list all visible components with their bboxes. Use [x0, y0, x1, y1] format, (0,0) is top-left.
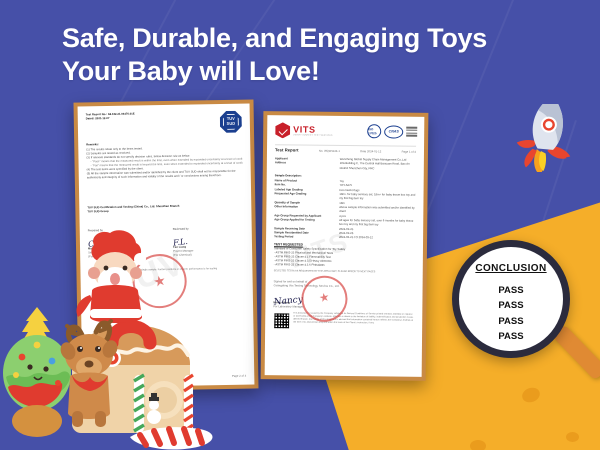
tuv-seal-label: TUV SUD [224, 117, 238, 126]
field-key: Testing Period [274, 235, 339, 240]
pass-result: PASS [498, 314, 523, 329]
ilac-mra-badge-icon [406, 127, 417, 136]
field-value: 10A Building C, The Central Hall Baoyuan… [340, 161, 416, 170]
report-no-label: Test Report No.: [86, 113, 108, 116]
report-date-value: 2021-12-07 [95, 117, 109, 120]
stamp-star-icon: ★ [319, 293, 330, 305]
test-report-document-right[interactable]: VITS VITS VERIFY INSPECT TEST SERVICES I… [261, 111, 429, 381]
sample-fields-list: Name of ProductToy Item No.TOY-6475 Labe… [274, 178, 416, 240]
christmas-tree-plush [3, 307, 71, 437]
vits-logo-subtext: VERIFY INSPECT TEST SERVICES [293, 134, 333, 136]
pass-result: PASS [498, 283, 523, 298]
document-title: Test Report [275, 147, 299, 152]
report-no-value: WQW1144-1 [324, 150, 340, 153]
report-date-label: Dated: [86, 117, 95, 120]
accent-dot [566, 432, 579, 442]
magnifier-lens: CONCLUSION PASS PASS PASS PASS [452, 240, 570, 358]
pass-result: PASS [498, 298, 523, 313]
magnifier-conclusion[interactable]: CONCLUSION PASS PASS PASS PASS [452, 240, 570, 358]
conclusion-title: CONCLUSION [475, 263, 546, 274]
banner-stage: Safe, Durable, and Engaging Toys Your Ba… [0, 0, 600, 450]
test-requested-list: Standard of Consumer Safety Specificatio… [274, 247, 415, 269]
santa-plush [77, 230, 147, 323]
page-title: Safe, Durable, and Engaging Toys Your Ba… [62, 22, 552, 88]
iso-badge-icon: ISO 17025 [367, 124, 381, 138]
plush-toys-group [0, 225, 224, 450]
accent-dot [470, 440, 486, 450]
qr-code[interactable] [273, 312, 290, 329]
vits-shield-icon [275, 122, 290, 138]
field-row: Address 10A Building C, The Central Hall… [275, 161, 416, 171]
remarks-list: (1) The results relate only to the items… [86, 146, 243, 181]
accreditation-badges: ISO 17025 CNAS [367, 124, 417, 139]
page-label: Page 1 of 4 [402, 151, 416, 155]
field-key: Address [275, 161, 340, 170]
conclusion-results: PASS PASS PASS PASS [498, 283, 523, 345]
report-date-value: 2024-01-12 [367, 150, 381, 153]
vits-logo-text: VITS [293, 125, 333, 134]
report-date-label: Date [360, 150, 366, 153]
tuv-seal-icon: TUV SUD [220, 111, 242, 133]
headline-line-2: Your Baby will Love! [62, 55, 552, 88]
page-label: Page 2 of 4 [232, 375, 246, 379]
cnas-badge-icon: CNAS [384, 125, 403, 138]
rocket-icon [512, 104, 582, 172]
report-no-value: 68.432.21.03476.01E [108, 113, 135, 116]
field-value: 2024-02-25 TO 2024-03-12 [339, 235, 415, 240]
report-no-label: No. [319, 150, 323, 153]
pass-result: PASS [498, 329, 523, 344]
field-row: Testing Period2024-02-25 TO 2024-03-12 [274, 235, 415, 241]
headline-line-1: Safe, Durable, and Engaging Toys [62, 23, 487, 53]
